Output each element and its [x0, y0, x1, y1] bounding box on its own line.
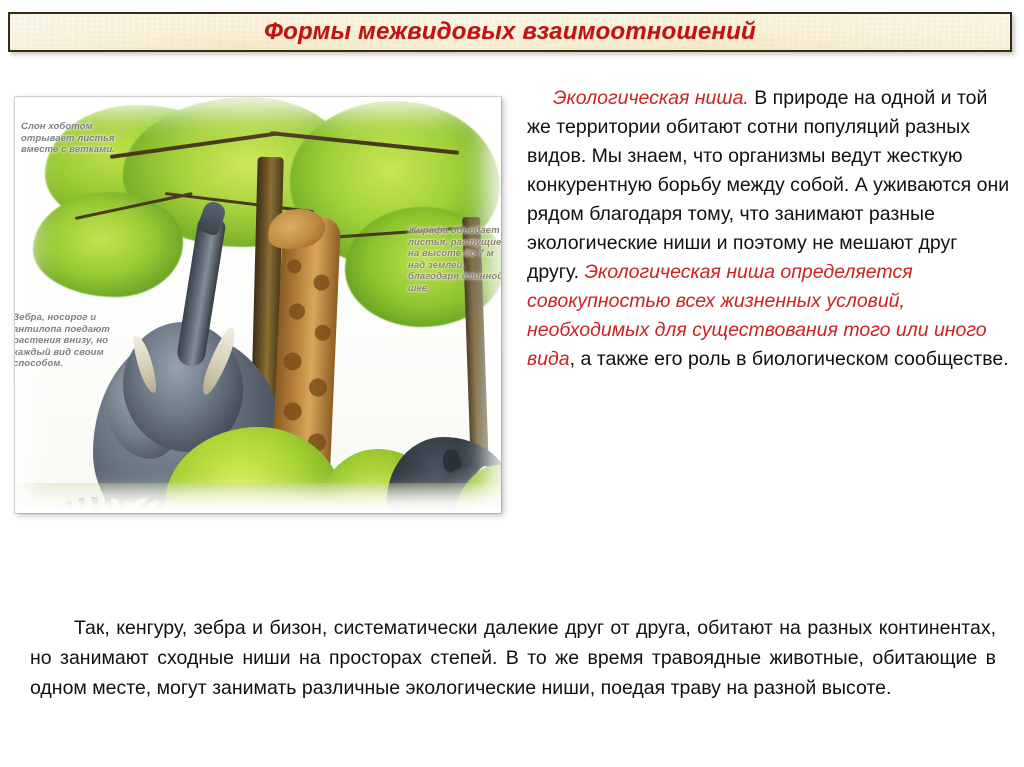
- illustration-caption-elephant: Слон хоботом отрывает листья вместе с ве…: [21, 121, 131, 156]
- niche-body-text-first: В природе на одной и той же территории о…: [527, 87, 1009, 283]
- similar-niches-paragraph: Так, кенгуру, зебра и бизон, систематиче…: [30, 613, 996, 703]
- similar-niches-text: Так, кенгуру, зебра и бизон, систематиче…: [30, 617, 996, 699]
- niche-term-lead: Экологическая ниша.: [553, 87, 749, 109]
- savanna-feeding-levels-illustration: Слон хоботом отрывает листья вместе с ве…: [15, 97, 501, 513]
- slide-title-banner: Формы межвидовых взаимоотношений: [8, 12, 1012, 52]
- niche-body-text-second: , а также его роль в биологическом сообщ…: [570, 348, 1009, 370]
- page-title: Формы межвидовых взаимоотношений: [264, 18, 756, 46]
- ecological-niche-paragraph: Экологическая ниша. В природе на одной и…: [527, 84, 1011, 374]
- tree-canopy-foliage: [33, 192, 183, 297]
- illustration-caption-giraffe: Жирафа объедает листья, растущие на высо…: [408, 225, 501, 294]
- ground-strip: [15, 483, 501, 513]
- illustration-caption-zebra-rhino-antelope: Зебра, носорог и антилопа поедают растен…: [15, 312, 121, 370]
